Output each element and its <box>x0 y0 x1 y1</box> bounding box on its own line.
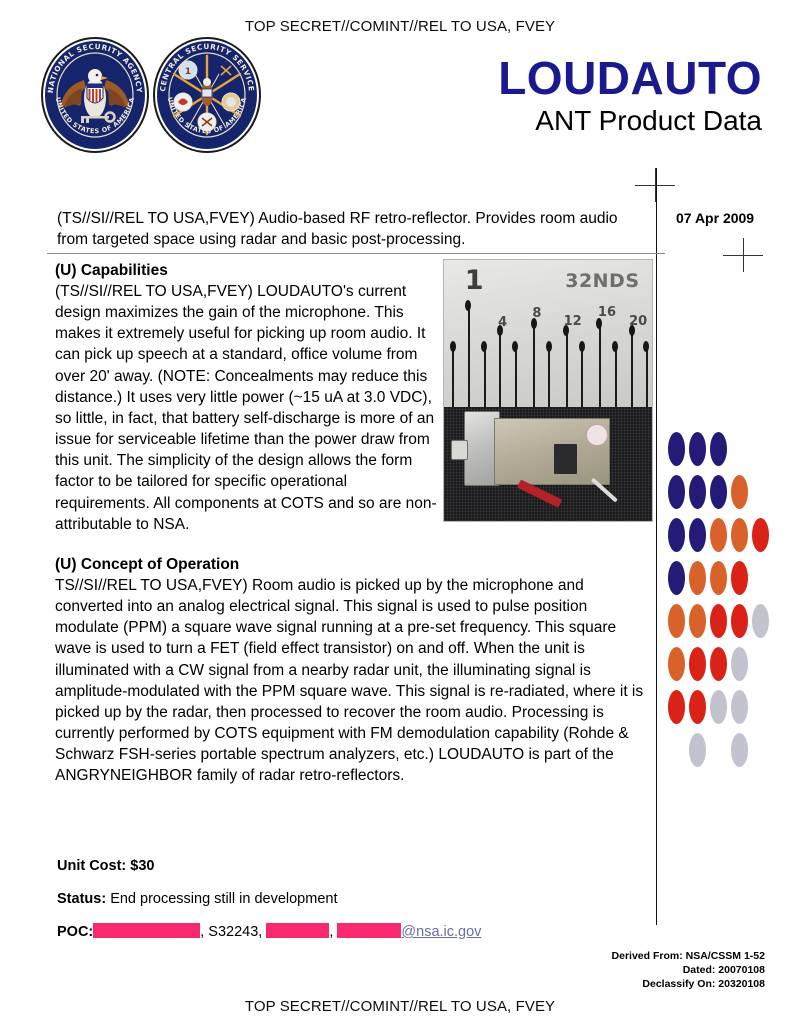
unit-cost: Unit Cost: $30 <box>57 858 155 874</box>
motif-ellipse-navy <box>689 432 706 466</box>
motif-ellipse-navy <box>668 518 685 552</box>
status-line: Status: End processing still in developm… <box>57 891 337 907</box>
page-title: LOUDAUTO <box>342 55 762 102</box>
section-capabilities-body: (TS//SI//REL TO USA,FVEY) LOUDAUTO's cur… <box>55 281 441 535</box>
decorative-ellipse-motif <box>668 432 794 772</box>
derived-from: Derived From: NSA/CSSM 1-52 <box>612 950 765 964</box>
motif-ellipse-gray <box>731 690 748 724</box>
central-security-service-seal-icon: 1 CENTRAL SECURITY SERVICE UNITED ST <box>152 36 262 154</box>
redaction-bar-email-user <box>337 923 401 938</box>
motif-ellipse-orange <box>668 604 685 638</box>
ruler-mark-16: 16 <box>598 306 616 319</box>
page-subtitle: ANT Product Data <box>342 104 762 138</box>
section-capabilities: (U) Capabilities (TS//SI//REL TO USA,FVE… <box>55 262 441 535</box>
dated: Dated: 20070108 <box>612 964 765 978</box>
section-conops-heading: (U) Concept of Operation <box>55 556 647 574</box>
redaction-bar-name <box>93 923 200 938</box>
motif-ellipse-red <box>710 604 727 638</box>
horizontal-divider <box>47 253 665 254</box>
motif-row <box>668 561 794 595</box>
registration-mark-top <box>635 168 675 202</box>
loudauto-device-photo: 1 32NDS 4 8 12 16 20 <box>443 259 653 522</box>
intro-paragraph: (TS//SI//REL TO USA,FVEY) Audio-based RF… <box>57 208 647 251</box>
registration-mark-middle <box>723 238 763 272</box>
motif-ellipse-gray <box>710 690 727 724</box>
motif-ellipse-gray <box>689 733 706 767</box>
motif-ellipse-navy <box>668 561 685 595</box>
classification-banner-bottom: TOP SECRET//COMINT//REL TO USA, FVEY <box>0 998 800 1015</box>
motif-ellipse-navy <box>689 475 706 509</box>
motif-ellipse-orange <box>731 518 748 552</box>
poc-separator: , <box>329 924 333 940</box>
motif-ellipse-gray <box>752 604 769 638</box>
motif-ellipse-navy <box>710 432 727 466</box>
circuit-board <box>494 418 610 485</box>
motif-row <box>668 518 794 552</box>
motif-ellipse-navy <box>668 432 685 466</box>
motif-ellipse-gray <box>731 733 748 767</box>
motif-ellipse-red <box>731 604 748 638</box>
section-capabilities-heading: (U) Capabilities <box>55 262 441 280</box>
pcb-chip <box>554 444 577 474</box>
motif-ellipse-navy <box>710 475 727 509</box>
motif-row <box>668 647 794 681</box>
motif-row <box>668 733 794 767</box>
redaction-bar-phone <box>266 923 329 938</box>
microphone-port <box>451 440 468 460</box>
poc-email-link[interactable]: @nsa.ic.gov <box>401 924 481 940</box>
poc-org: , S32243, <box>200 924 262 940</box>
pcb-component <box>586 424 607 446</box>
svg-text:1: 1 <box>185 67 191 77</box>
motif-ellipse-red <box>710 647 727 681</box>
ruler-background: 1 32NDS 4 8 12 16 20 <box>444 260 652 407</box>
status-label: Status: <box>57 891 106 907</box>
motif-ellipse-red <box>689 647 706 681</box>
status-value: End processing still in development <box>110 891 337 907</box>
motif-row <box>668 690 794 724</box>
motif-ellipse-orange <box>710 518 727 552</box>
motif-ellipse-orange <box>731 475 748 509</box>
motif-ellipse-red <box>689 690 706 724</box>
poc-line: POC:, S32243, , @nsa.ic.gov <box>57 923 481 940</box>
title-block: LOUDAUTO ANT Product Data <box>342 55 762 138</box>
motif-ellipse-orange <box>689 561 706 595</box>
derivation-block: Derived From: NSA/CSSM 1-52 Dated: 20070… <box>612 950 765 992</box>
nsa-seal-icon: NATIONAL SECURITY AGENCY UNITED STATES O… <box>40 36 150 154</box>
motif-ellipse-red <box>731 561 748 595</box>
motif-row <box>668 475 794 509</box>
section-conops-body: TS//SI//REL TO USA,FVEY) Room audio is p… <box>55 575 647 787</box>
agency-seals: NATIONAL SECURITY AGENCY UNITED STATES O… <box>40 36 280 154</box>
motif-ellipse-red <box>752 518 769 552</box>
vertical-divider <box>656 168 657 925</box>
poc-label: POC: <box>57 924 93 940</box>
document-date: 07 Apr 2009 <box>676 210 754 226</box>
motif-ellipse-red <box>668 690 685 724</box>
motif-ellipse-navy <box>668 475 685 509</box>
motif-row <box>668 432 794 466</box>
ruler-brand-label: 32NDS <box>565 272 639 291</box>
section-concept-of-operation: (U) Concept of Operation TS//SI//REL TO … <box>55 556 647 787</box>
ruler-mark-1: 1 <box>465 267 484 294</box>
motif-ellipse-orange <box>668 647 685 681</box>
declassify-on: Declassify On: 20320108 <box>612 978 765 992</box>
classification-banner-top: TOP SECRET//COMINT//REL TO USA, FVEY <box>0 18 800 35</box>
motif-ellipse-gray <box>731 647 748 681</box>
motif-row <box>668 604 794 638</box>
motif-ellipse-orange <box>710 561 727 595</box>
motif-ellipse-navy <box>689 518 706 552</box>
motif-ellipse-orange <box>689 604 706 638</box>
